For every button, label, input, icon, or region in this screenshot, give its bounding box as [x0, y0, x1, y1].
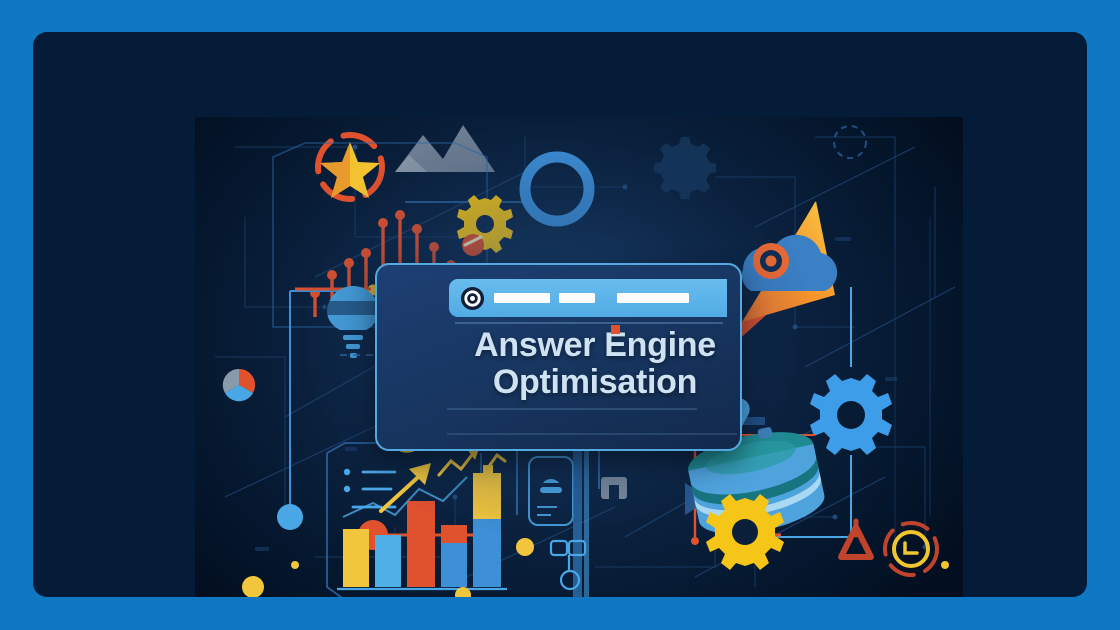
search-placeholder-bar-1	[494, 293, 550, 303]
slide-panel: Answer Engine Optimisation	[33, 32, 1087, 597]
title-line-1: Answer Engine	[474, 326, 716, 364]
slide-canvas: Answer Engine Optimisation	[0, 0, 1120, 630]
triangle-warning-icon	[841, 521, 871, 557]
search-placeholder-bar-2	[559, 293, 595, 303]
card-rule-bottom	[447, 433, 737, 435]
target-bullseye-icon	[460, 286, 485, 311]
card-rule-mid	[447, 408, 697, 410]
search-bar[interactable]	[449, 279, 727, 317]
title-line-2: Optimisation	[455, 364, 735, 401]
card-rule-top	[455, 322, 723, 324]
page-title: Answer Engine Optimisation	[455, 327, 735, 402]
aeo-card[interactable]: Answer Engine Optimisation	[375, 263, 742, 451]
badge-ring-icon	[885, 523, 937, 575]
accent-square	[611, 325, 620, 334]
search-placeholder-bar-3	[617, 293, 689, 303]
gear-icon	[706, 494, 784, 570]
